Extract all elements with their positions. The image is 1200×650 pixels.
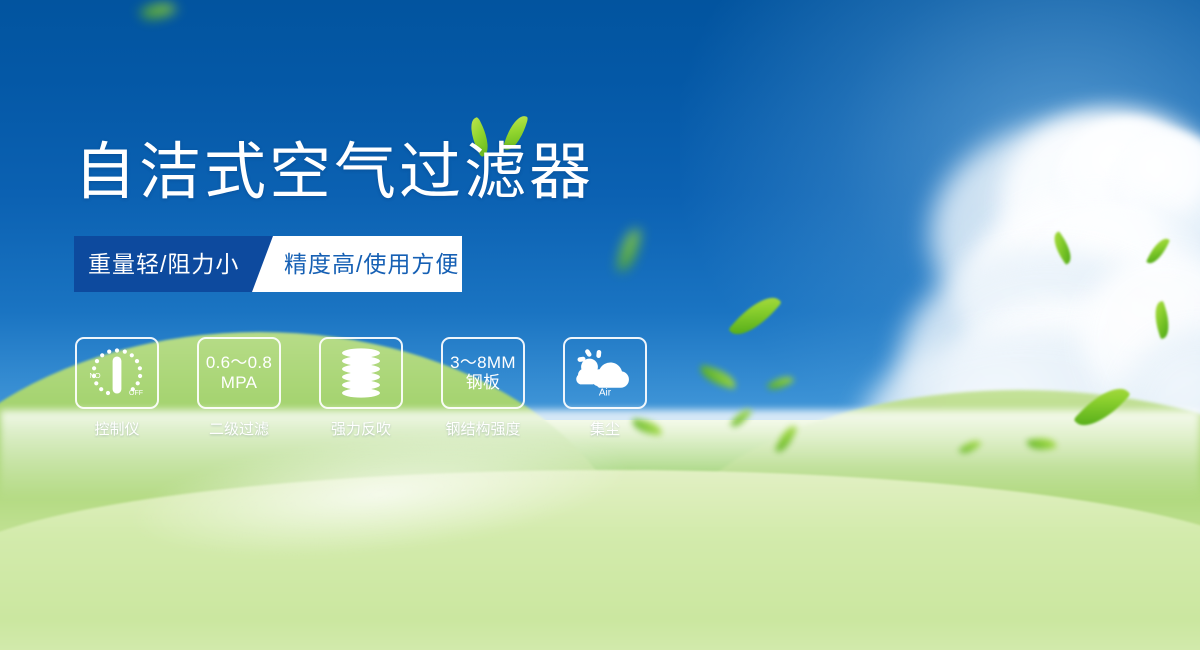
page-title: 自洁式空气过滤器 [74,142,594,204]
steel-plate-text-icon: 3〜8MM 钢板 [450,353,516,393]
cloud-sun-air-icon: Air [572,345,638,401]
filter-coil-icon [333,345,389,401]
feature-item-controller[interactable]: NO OFF 控制仪 [74,337,160,439]
pressure-unit-line: MPA [206,373,272,393]
feature-icon-box: 3〜8MM 钢板 [441,337,525,409]
feature-icon-box: 0.6〜0.8 MPA [197,337,281,409]
feature-label: 钢结构强度 [445,418,520,439]
subtitle-bar: 重量轻/阻力小 精度高/使用方便 [74,236,462,292]
steel-thickness-line: 3〜8MM [450,353,516,373]
product-hero-banner: 自洁式空气过滤器 重量轻/阻力小 精度高/使用方便 [0,0,1200,650]
feature-label: 二级过滤 [209,418,269,439]
feature-label: 集尘 [590,418,620,439]
gauge-dial-icon: NO OFF [86,345,148,401]
feature-list: NO OFF 控制仪 0.6〜0.8 MPA 二级过滤 [74,337,648,439]
pressure-text-icon: 0.6〜0.8 MPA [206,353,272,393]
pressure-value-line: 0.6〜0.8 [206,353,272,373]
feature-icon-box [319,337,403,409]
steel-material-line: 钢板 [450,373,516,393]
subtitle-right-text: 精度高/使用方便 [284,236,459,292]
svg-text:NO: NO [89,371,100,380]
feature-icon-box: Air [563,337,647,409]
feature-label: 控制仪 [94,418,139,439]
feature-item-dust-collection[interactable]: Air 集尘 [562,337,648,439]
feature-item-blowback[interactable]: 强力反吹 [318,337,404,439]
subtitle-left-text: 重量轻/阻力小 [88,236,239,292]
feature-label: 强力反吹 [331,418,391,439]
feature-item-steel[interactable]: 3〜8MM 钢板 钢结构强度 [440,337,526,439]
feature-item-pressure[interactable]: 0.6〜0.8 MPA 二级过滤 [196,337,282,439]
feature-icon-box: NO OFF [75,337,159,409]
svg-text:OFF: OFF [129,390,143,397]
svg-text:Air: Air [599,388,612,399]
